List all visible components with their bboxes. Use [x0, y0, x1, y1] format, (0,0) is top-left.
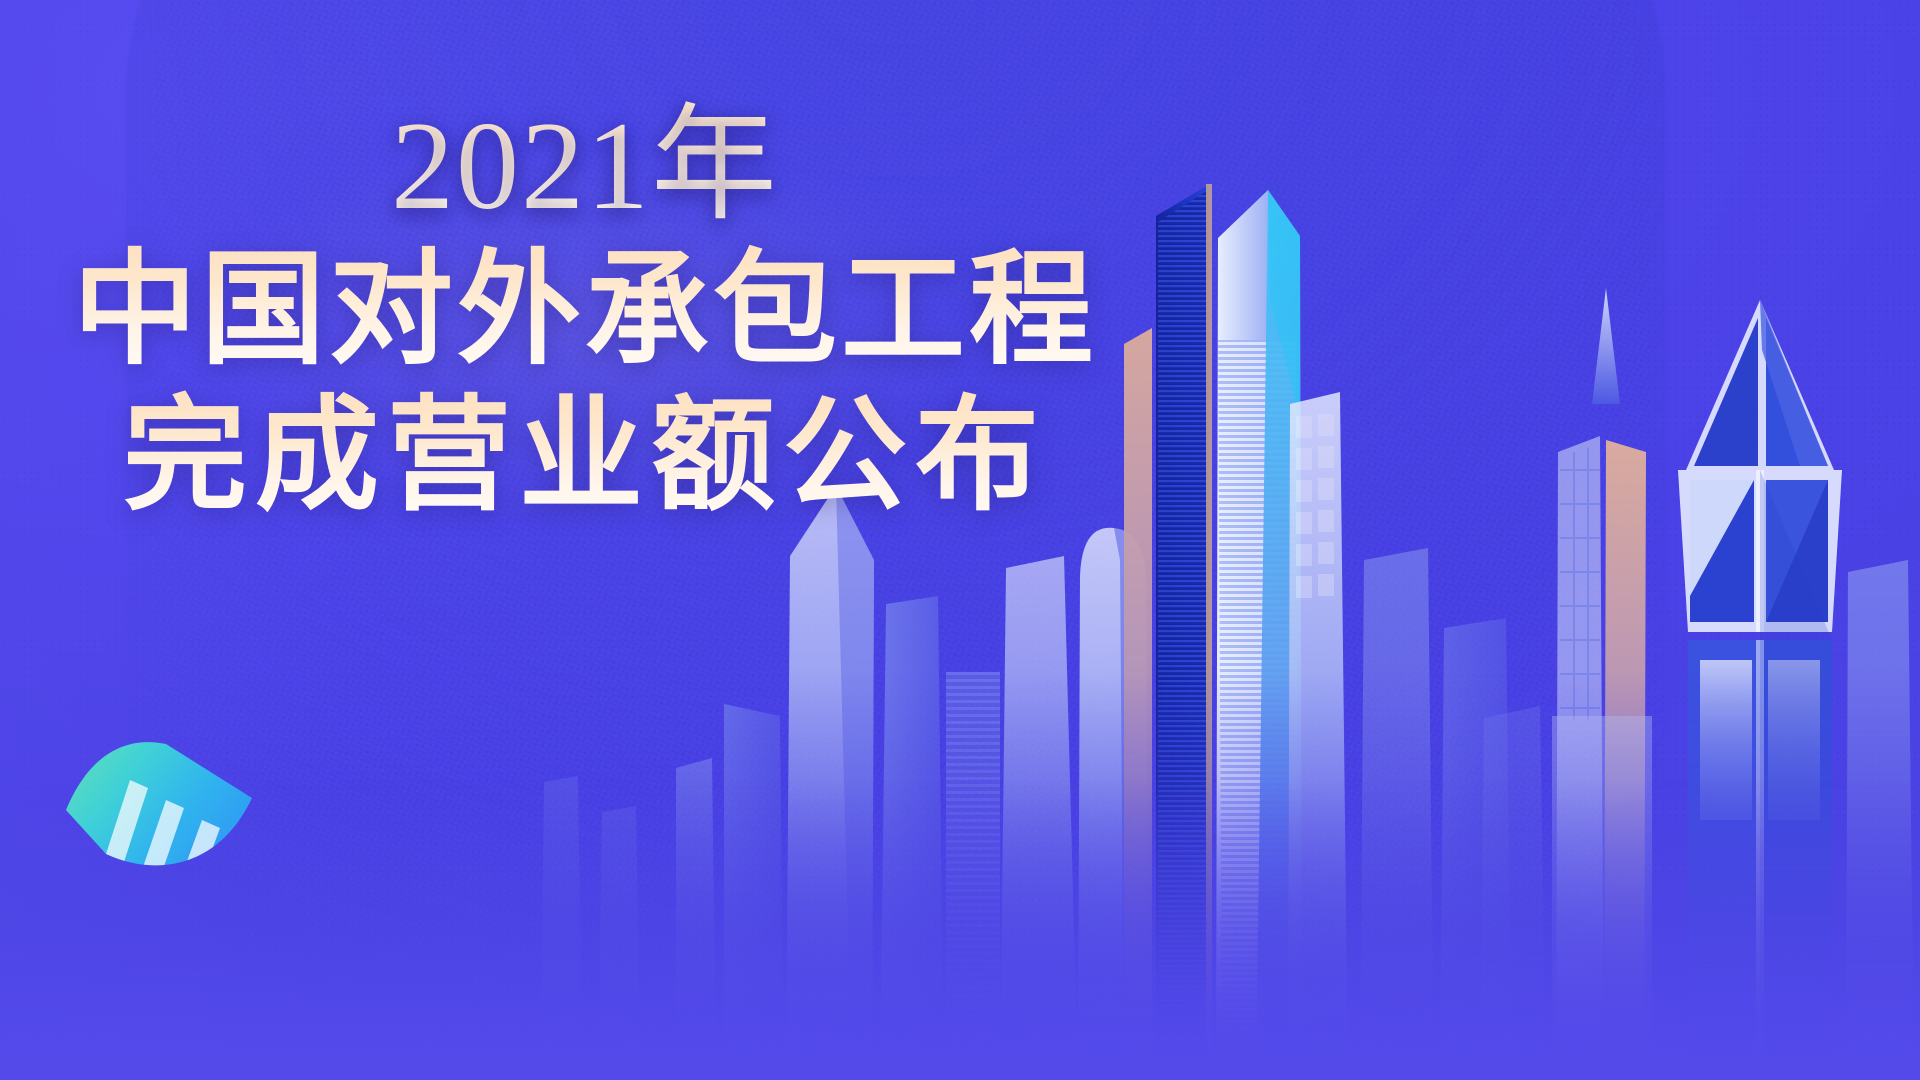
building-left-block-tower — [724, 704, 784, 1080]
building-window-grid-tower — [1288, 392, 1348, 1080]
title-line-1: 中国对外承包工程 — [0, 237, 1170, 383]
building-pyramid-crown-tower — [1678, 300, 1842, 1080]
teal-ribbon — [62, 742, 292, 872]
poster-title-block: 2021年 中国对外承包工程 完成营业额公布 — [0, 96, 1170, 530]
building-right-block-tower — [1846, 560, 1914, 1080]
building-angled-glass-tower — [1000, 556, 1078, 1080]
building-slim-left-tower — [676, 758, 716, 1080]
building-tapered-mid-tower — [880, 596, 944, 1080]
building-spire-grid-tower — [1552, 288, 1652, 1080]
title-line-2: 完成营业额公布 — [0, 383, 1170, 529]
poster-canvas: 2021年 中国对外承包工程 完成营业额公布 — [0, 0, 1920, 1080]
title-year: 2021年 — [0, 96, 1170, 237]
building-striped-midrise — [946, 672, 1000, 1080]
